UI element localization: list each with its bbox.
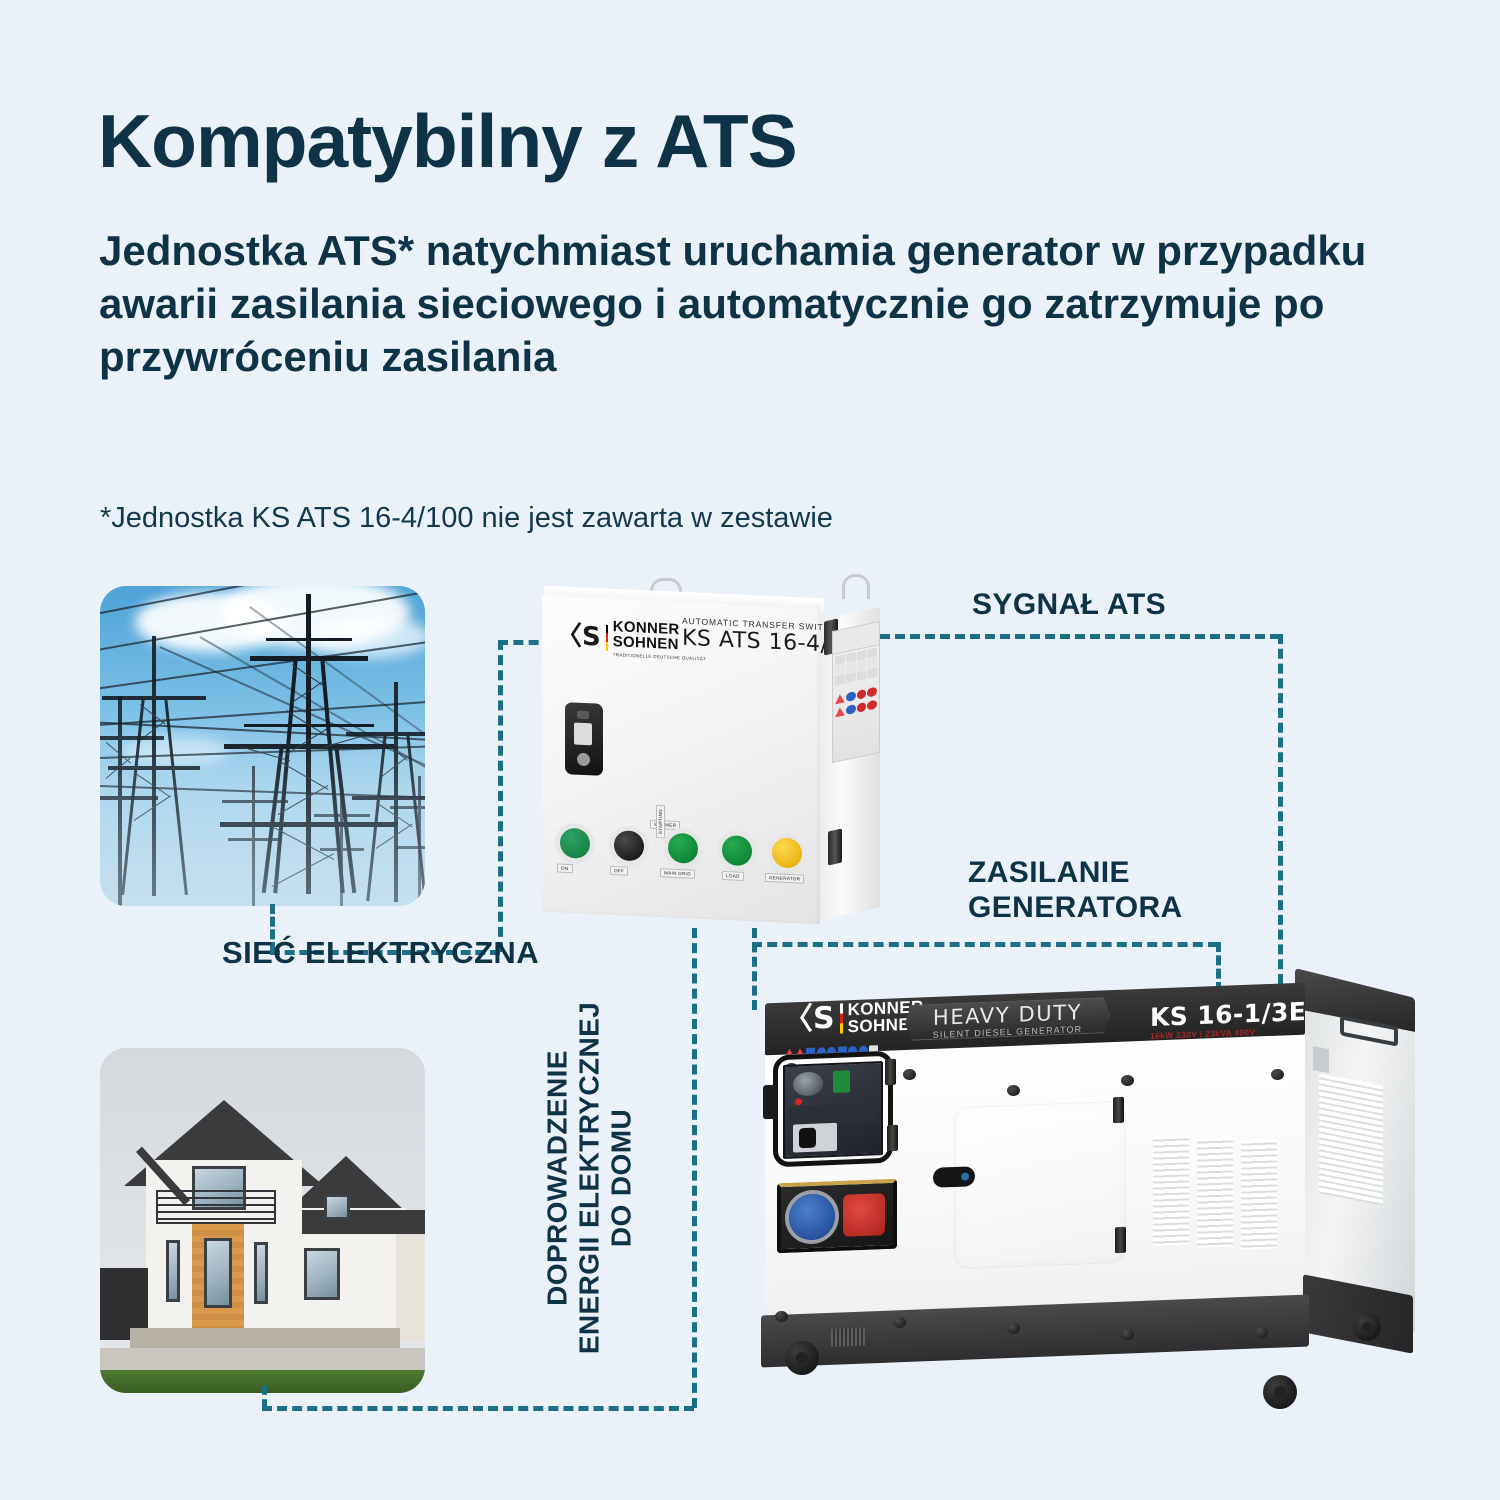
base-bolt	[775, 1311, 788, 1322]
generator-image: 〈S KONNER SOHNEN HEAVY DUTY SILENT DIESE…	[755, 985, 1415, 1415]
main-grid-label: MAIN GRID	[660, 868, 695, 879]
on-button-label: ON	[557, 863, 573, 873]
house-photo	[100, 1048, 425, 1393]
front-vent-louvers	[1153, 1134, 1189, 1245]
load-label: LOAD	[722, 871, 744, 881]
ks-monogram-icon: 〈S	[556, 622, 601, 650]
start-switch[interactable]	[833, 1070, 850, 1093]
connector-signal-right	[880, 634, 1280, 639]
window-dormer	[324, 1194, 350, 1220]
panel-label-strip	[789, 1103, 877, 1124]
connector-home-left	[262, 1406, 694, 1411]
generator-control-panel[interactable]	[783, 1061, 883, 1159]
callout-home-supply-line3: DO DOMU	[606, 1002, 638, 1354]
connector-home-down	[692, 928, 697, 1408]
ats-rating-plate	[832, 621, 880, 763]
service-door-hinge-top	[1113, 1097, 1124, 1123]
callout-generator-power-line1: ZASILANIE	[968, 855, 1183, 890]
generator-label: GENERATOR	[765, 873, 804, 884]
window-right-wing	[304, 1248, 340, 1300]
callout-home-supply-line1: DOPROWADZENIE	[542, 1002, 574, 1354]
front-vent-louvers	[1241, 1138, 1277, 1249]
window-front-right	[254, 1242, 268, 1304]
warning-led	[795, 1098, 802, 1105]
panel-bolt	[1007, 1085, 1020, 1096]
brand-color-bar	[606, 625, 608, 651]
base-bolt	[1255, 1327, 1268, 1338]
front-vent-louvers	[1197, 1136, 1233, 1247]
callout-home-supply-rotated: DOPROWADZENIE ENERGII ELEKTRYCZNEJ DO DO…	[542, 1002, 639, 1354]
generator-lamp[interactable]	[772, 837, 802, 868]
load-lamp[interactable]	[722, 835, 752, 866]
callout-generator-power-line2: GENERATORA	[968, 890, 1183, 925]
base-bolt	[1007, 1323, 1020, 1334]
on-button[interactable]	[560, 828, 590, 859]
key-selector-knob[interactable]	[799, 1128, 816, 1149]
side-vent-louvers	[1319, 1073, 1383, 1205]
base-vent	[831, 1328, 865, 1347]
ks-monogram-icon: 〈S	[783, 1004, 835, 1036]
door-hinge-bottom	[887, 1125, 898, 1151]
window-front-center	[204, 1238, 232, 1308]
atmospheric-haze	[100, 586, 425, 906]
roof-eave-right	[282, 1210, 425, 1234]
footnote-text: *Jednostka KS ATS 16-4/100 nie jest zawa…	[100, 500, 1400, 538]
breaker-top-nub	[577, 711, 589, 720]
door-hinge-top	[885, 1059, 896, 1085]
panel-bolt	[1121, 1075, 1134, 1086]
socket-panel[interactable]	[777, 1179, 897, 1254]
caster-wheel-front-right	[1263, 1375, 1297, 1409]
wall-far-right	[396, 1234, 425, 1342]
infographic-canvas: Kompatybilny z ATS Jednostka ATS* natych…	[0, 0, 1500, 1500]
callout-ats-signal: SYGNAŁ ATS	[972, 588, 1166, 622]
page-subtitle: Jednostka ATS* natychmiast uruchamia gen…	[99, 225, 1399, 384]
panel-bolt	[1271, 1069, 1284, 1080]
starting-label: STARTING	[656, 805, 665, 839]
base-bolt	[1121, 1329, 1134, 1340]
service-door-hinge-bottom	[1115, 1227, 1126, 1253]
balcony-railing	[156, 1190, 276, 1224]
page-title: Kompatybilny z ATS	[98, 104, 1418, 179]
ats-control-row: ON OFF SUMMER STARTING MAIN GRID LOAD GE…	[556, 819, 801, 882]
callout-home-supply: DOPROWADZENIE ENERGII ELEKTRYCZNEJ DO DO…	[520, 968, 660, 1388]
ats-lifting-handle	[842, 574, 870, 599]
generator-model-block: KS 16-1/3E 16kW 230V / 23kVA 400V	[1150, 999, 1306, 1041]
connector-home-up-to-house	[262, 1386, 267, 1408]
door-latch-handle[interactable]	[933, 1166, 975, 1188]
side-nameplate	[1313, 1046, 1329, 1073]
ats-circuit-breaker[interactable]	[565, 702, 603, 776]
generator-service-door[interactable]	[955, 1102, 1125, 1269]
grid-photo	[100, 586, 425, 906]
caster-wheel-front-left	[785, 1341, 819, 1375]
blue-cee-socket[interactable]	[789, 1193, 835, 1241]
gable-truss	[220, 1128, 246, 1148]
brand-color-bar	[840, 1004, 843, 1034]
callout-generator-power: ZASILANIE GENERATORA	[968, 855, 1183, 926]
off-button-label: OFF	[610, 866, 628, 876]
panel-toggle-strip[interactable]	[763, 1085, 777, 1120]
callout-grid: SIEĆ ELEKTRYCZNA	[222, 935, 539, 971]
breaker-reset-dot[interactable]	[577, 753, 590, 767]
red-cee-socket[interactable]	[843, 1193, 885, 1237]
panel-bolt	[903, 1069, 916, 1080]
connector-grid-up	[498, 640, 503, 952]
window-front-left	[166, 1240, 180, 1302]
caster-wheel-rear-right	[1353, 1313, 1381, 1341]
off-selector-knob[interactable]	[614, 830, 644, 861]
ats-unit-image: 〈S KONNER SOHNEN TRADITIONELLE DEUTSCHE …	[532, 578, 892, 938]
connector-signal-down	[1278, 634, 1283, 984]
connector-genpower-right	[752, 942, 1218, 947]
latch-lock-icon	[961, 1172, 969, 1180]
breaker-toggle[interactable]	[574, 723, 592, 746]
generator-brand-logo: 〈S KONNER SOHNEN	[783, 998, 924, 1038]
base-bolt	[893, 1317, 906, 1328]
ats-hinge-bottom	[828, 829, 842, 866]
hour-meter-display	[793, 1071, 823, 1096]
callout-home-supply-line2: ENERGII ELEKTRYCZNEJ	[574, 1002, 606, 1354]
summer-label: SUMMER	[650, 820, 680, 830]
main-grid-lamp[interactable]	[668, 833, 698, 864]
